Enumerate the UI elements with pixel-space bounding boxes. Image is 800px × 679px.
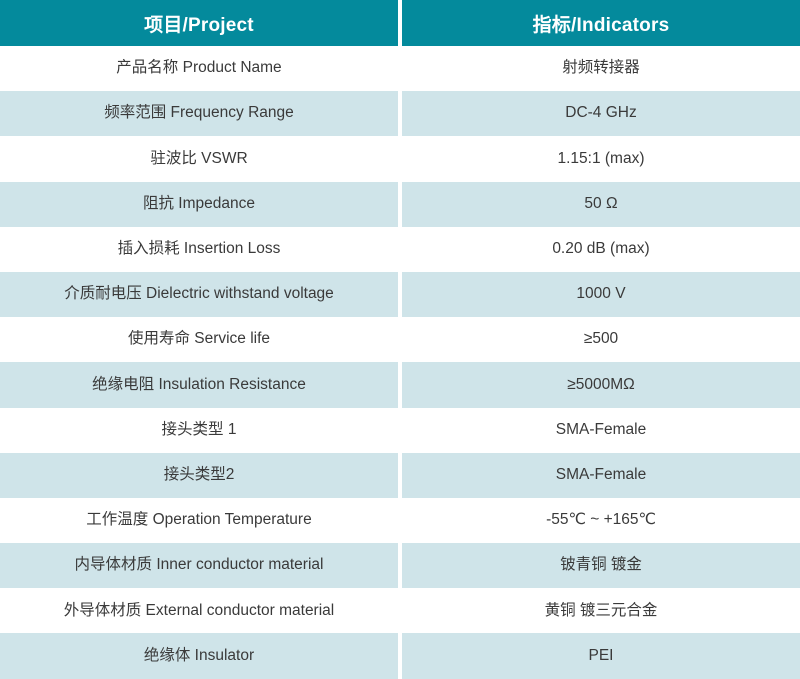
row-value: 黄铜 镀三元合金: [402, 588, 800, 633]
row-label: 外导体材质 External conductor material: [0, 588, 398, 633]
table-row: 绝缘体 Insulator PEI: [0, 633, 800, 678]
table-row: 接头类型2 SMA-Female: [0, 453, 800, 498]
table-row: 产品名称 Product Name 射频转接器: [0, 46, 800, 91]
table-row: 外导体材质 External conductor material 黄铜 镀三元…: [0, 588, 800, 633]
row-value: 射频转接器: [402, 46, 800, 91]
table-row: 插入损耗 Insertion Loss 0.20 dB (max): [0, 227, 800, 272]
row-label: 接头类型 1: [0, 408, 398, 453]
row-value: SMA-Female: [402, 453, 800, 498]
table-body: 产品名称 Product Name 射频转接器 频率范围 Frequency R…: [0, 46, 800, 679]
row-label: 阻抗 Impedance: [0, 182, 398, 227]
table-row: 内导体材质 Inner conductor material 铍青铜 镀金: [0, 543, 800, 588]
table-row: 阻抗 Impedance 50 Ω: [0, 182, 800, 227]
specification-table: 项目/Project 指标/Indicators 产品名称 Product Na…: [0, 0, 800, 679]
row-label: 使用寿命 Service life: [0, 317, 398, 362]
table-row: 接头类型 1 SMA-Female: [0, 408, 800, 453]
column-header-project: 项目/Project: [0, 0, 398, 46]
row-value: 铍青铜 镀金: [402, 543, 800, 588]
row-label: 频率范围 Frequency Range: [0, 91, 398, 136]
row-value: ≥500: [402, 317, 800, 362]
table-row: 介质耐电压 Dielectric withstand voltage 1000 …: [0, 272, 800, 317]
row-value: SMA-Female: [402, 408, 800, 453]
row-label: 绝缘体 Insulator: [0, 633, 398, 678]
row-value: ≥5000MΩ: [402, 362, 800, 407]
row-label: 介质耐电压 Dielectric withstand voltage: [0, 272, 398, 317]
table-row: 工作温度 Operation Temperature -55℃ ~ +165℃: [0, 498, 800, 543]
row-label: 产品名称 Product Name: [0, 46, 398, 91]
row-label: 工作温度 Operation Temperature: [0, 498, 398, 543]
table-row: 使用寿命 Service life ≥500: [0, 317, 800, 362]
table-row: 驻波比 VSWR 1.15:1 (max): [0, 136, 800, 181]
row-label: 插入损耗 Insertion Loss: [0, 227, 398, 272]
row-label: 接头类型2: [0, 453, 398, 498]
row-value: DC-4 GHz: [402, 91, 800, 136]
table-row: 频率范围 Frequency Range DC-4 GHz: [0, 91, 800, 136]
row-value: PEI: [402, 633, 800, 678]
row-value: -55℃ ~ +165℃: [402, 498, 800, 543]
row-value: 1.15:1 (max): [402, 136, 800, 181]
table-header-row: 项目/Project 指标/Indicators: [0, 0, 800, 46]
row-value: 1000 V: [402, 272, 800, 317]
row-label: 绝缘电阻 Insulation Resistance: [0, 362, 398, 407]
row-label: 内导体材质 Inner conductor material: [0, 543, 398, 588]
row-value: 50 Ω: [402, 182, 800, 227]
row-label: 驻波比 VSWR: [0, 136, 398, 181]
table-row: 绝缘电阻 Insulation Resistance ≥5000MΩ: [0, 362, 800, 407]
row-value: 0.20 dB (max): [402, 227, 800, 272]
column-header-indicators: 指标/Indicators: [402, 0, 800, 46]
